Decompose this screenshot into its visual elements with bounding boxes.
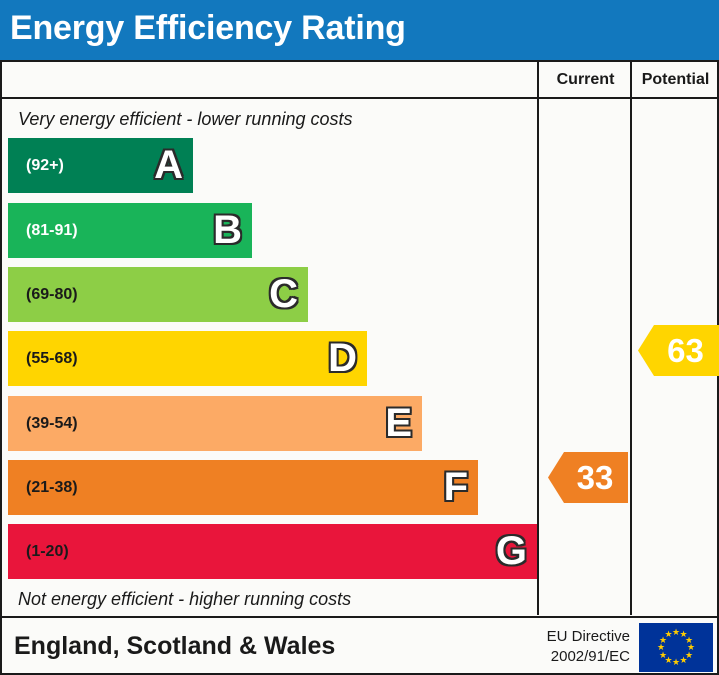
rating-band-b: (81-91)B (8, 203, 252, 258)
chart-footer: England, Scotland & Wales EU Directive 2… (0, 618, 719, 675)
band-letter-g: G (496, 531, 527, 571)
rating-band-e: (39-54)E (8, 396, 422, 451)
band-letter-c: C (269, 274, 298, 314)
band-letter-f: F (444, 467, 468, 507)
directive-line-2: 2002/91/EC (520, 647, 630, 667)
band-range-label: (1-20) (26, 543, 69, 561)
band-letter-d: D (328, 338, 357, 378)
band-range-label: (92+) (26, 157, 64, 175)
band-letter-a: A (154, 145, 183, 185)
energy-efficiency-rating-chart: Energy Efficiency Rating Current Potenti… (0, 0, 719, 675)
rating-marker-current: 33 (548, 452, 628, 503)
band-range-label: (39-54) (26, 415, 78, 433)
eu-star-icon: ★ (664, 630, 673, 639)
band-range-label: (69-80) (26, 286, 78, 304)
rating-value-current: 33 (563, 461, 614, 494)
rating-band-f: (21-38)F (8, 460, 478, 515)
band-letter-b: B (213, 210, 242, 250)
band-range-label: (21-38) (26, 479, 78, 497)
rating-band-c: (69-80)C (8, 267, 308, 322)
band-range-label: (81-91) (26, 222, 78, 240)
rating-band-g: (1-20)G (8, 524, 537, 579)
band-range-label: (55-68) (26, 350, 78, 368)
rating-bands: (92+)A(81-91)B(69-80)C(55-68)D(39-54)E(2… (0, 0, 719, 675)
rating-marker-potential: 63 (638, 325, 719, 376)
footer-countries-label: England, Scotland & Wales (14, 632, 335, 661)
rating-band-d: (55-68)D (8, 331, 367, 386)
rating-value-potential: 63 (653, 334, 704, 367)
footer-directive-label: EU Directive 2002/91/EC (520, 627, 630, 668)
eu-flag-icon: ★★★★★★★★★★★★ (639, 623, 713, 672)
directive-line-1: EU Directive (520, 627, 630, 647)
rating-band-a: (92+)A (8, 138, 193, 193)
band-letter-e: E (385, 403, 412, 443)
